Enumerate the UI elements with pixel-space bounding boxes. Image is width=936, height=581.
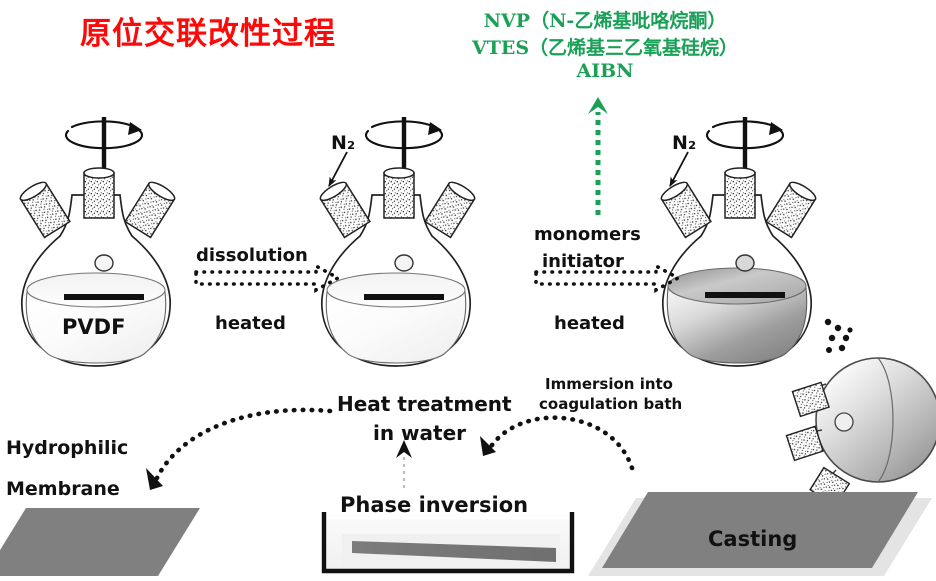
coagulation-bath — [324, 512, 572, 571]
flask-left-neck — [318, 179, 370, 237]
flask-center-neck — [725, 168, 755, 218]
hydrophilic-membrane-plate — [0, 508, 200, 576]
step-label-monomers: monomers — [534, 224, 641, 245]
step-label-initiator: initiator — [542, 251, 624, 272]
flask-center-neck — [384, 168, 414, 218]
process-diagram: 原位交联改性过程 NVP（N-乙烯基吡咯烷酮） VTES（乙烯基三乙氧基硅烷） … — [0, 0, 936, 581]
step-label-heat-treatment-line1: Heat treatment — [337, 392, 512, 416]
output-label-hydrophilic: Hydrophilic — [6, 437, 128, 459]
arrow-phase-to-heat — [396, 440, 412, 488]
arrow-reagent-feed — [588, 97, 608, 215]
output-label-casting: Casting — [708, 527, 797, 551]
reagent-label-vtes: VTES（乙烯基三乙氧基硅烷） — [435, 33, 775, 60]
gas-label-n2-flask2: N₂ — [331, 132, 355, 154]
step-label-immersion-line1: Immersion into — [545, 375, 673, 393]
flask-left-neck — [659, 179, 711, 237]
flask-dissolved — [318, 117, 477, 366]
gas-label-n2-flask3: N₂ — [672, 132, 696, 154]
reagent-label-aibn: AIBN — [435, 60, 775, 82]
flask-right-neck — [125, 179, 177, 237]
n2-arrow — [670, 152, 688, 186]
step-label-heated-1: heated — [215, 313, 286, 334]
flask-right-neck — [425, 179, 477, 237]
output-label-phase-inversion: Phase inversion — [340, 493, 528, 517]
pour-dots — [825, 319, 853, 353]
arrow-immersion — [480, 418, 632, 468]
page-title: 原位交联改性过程 — [80, 8, 336, 53]
step-label-heat-treatment-line2: in water — [373, 421, 466, 445]
arrow-dissolution — [196, 266, 338, 290]
flask-polymerized — [659, 117, 818, 366]
step-label-heated-2: heated — [554, 313, 625, 334]
flask-left-neck — [18, 179, 70, 237]
flask-right-neck — [766, 179, 818, 237]
flask-center-neck — [84, 168, 114, 218]
output-label-membrane: Membrane — [6, 478, 120, 500]
flask-label-pvdf: PVDF — [62, 315, 125, 339]
step-label-immersion-line2: coagulation bath — [539, 395, 682, 413]
reagent-label-nvp: NVP（N-乙烯基吡咯烷酮） — [435, 6, 775, 33]
n2-arrow — [329, 152, 347, 186]
step-label-dissolution: dissolution — [196, 245, 308, 266]
arrow-heat-treatment — [146, 410, 330, 490]
